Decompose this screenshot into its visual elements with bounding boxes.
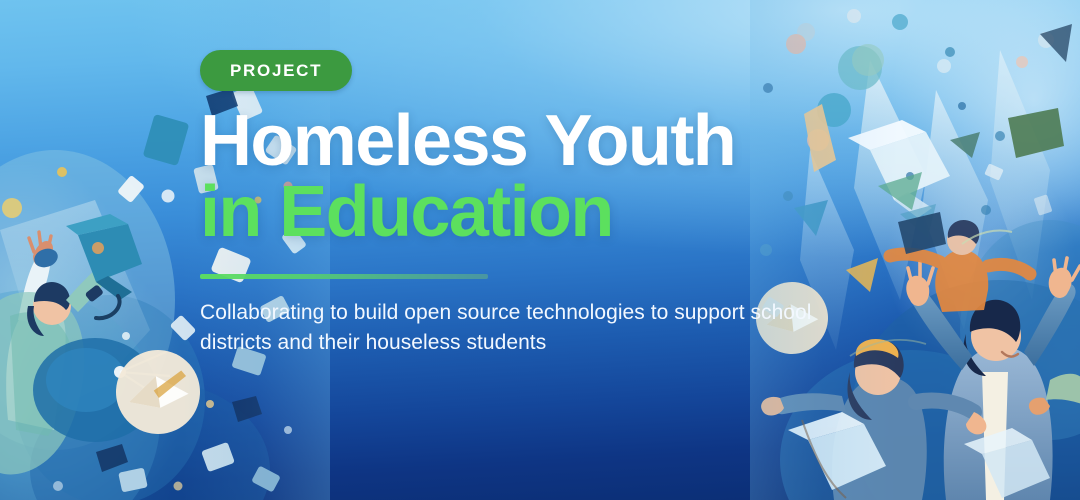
hero-content: PROJECT Homeless Youth in Education Coll…	[200, 0, 860, 500]
project-badge: PROJECT	[200, 50, 352, 91]
hero-subtitle: Collaborating to build open source techn…	[200, 298, 820, 358]
headline-line-2: in Education	[200, 177, 860, 248]
hero-banner: PROJECT Homeless Youth in Education Coll…	[0, 0, 1080, 500]
accent-divider	[200, 274, 488, 279]
page-title: Homeless Youth in Education	[200, 106, 860, 249]
headline-line-1: Homeless Youth	[200, 101, 735, 181]
